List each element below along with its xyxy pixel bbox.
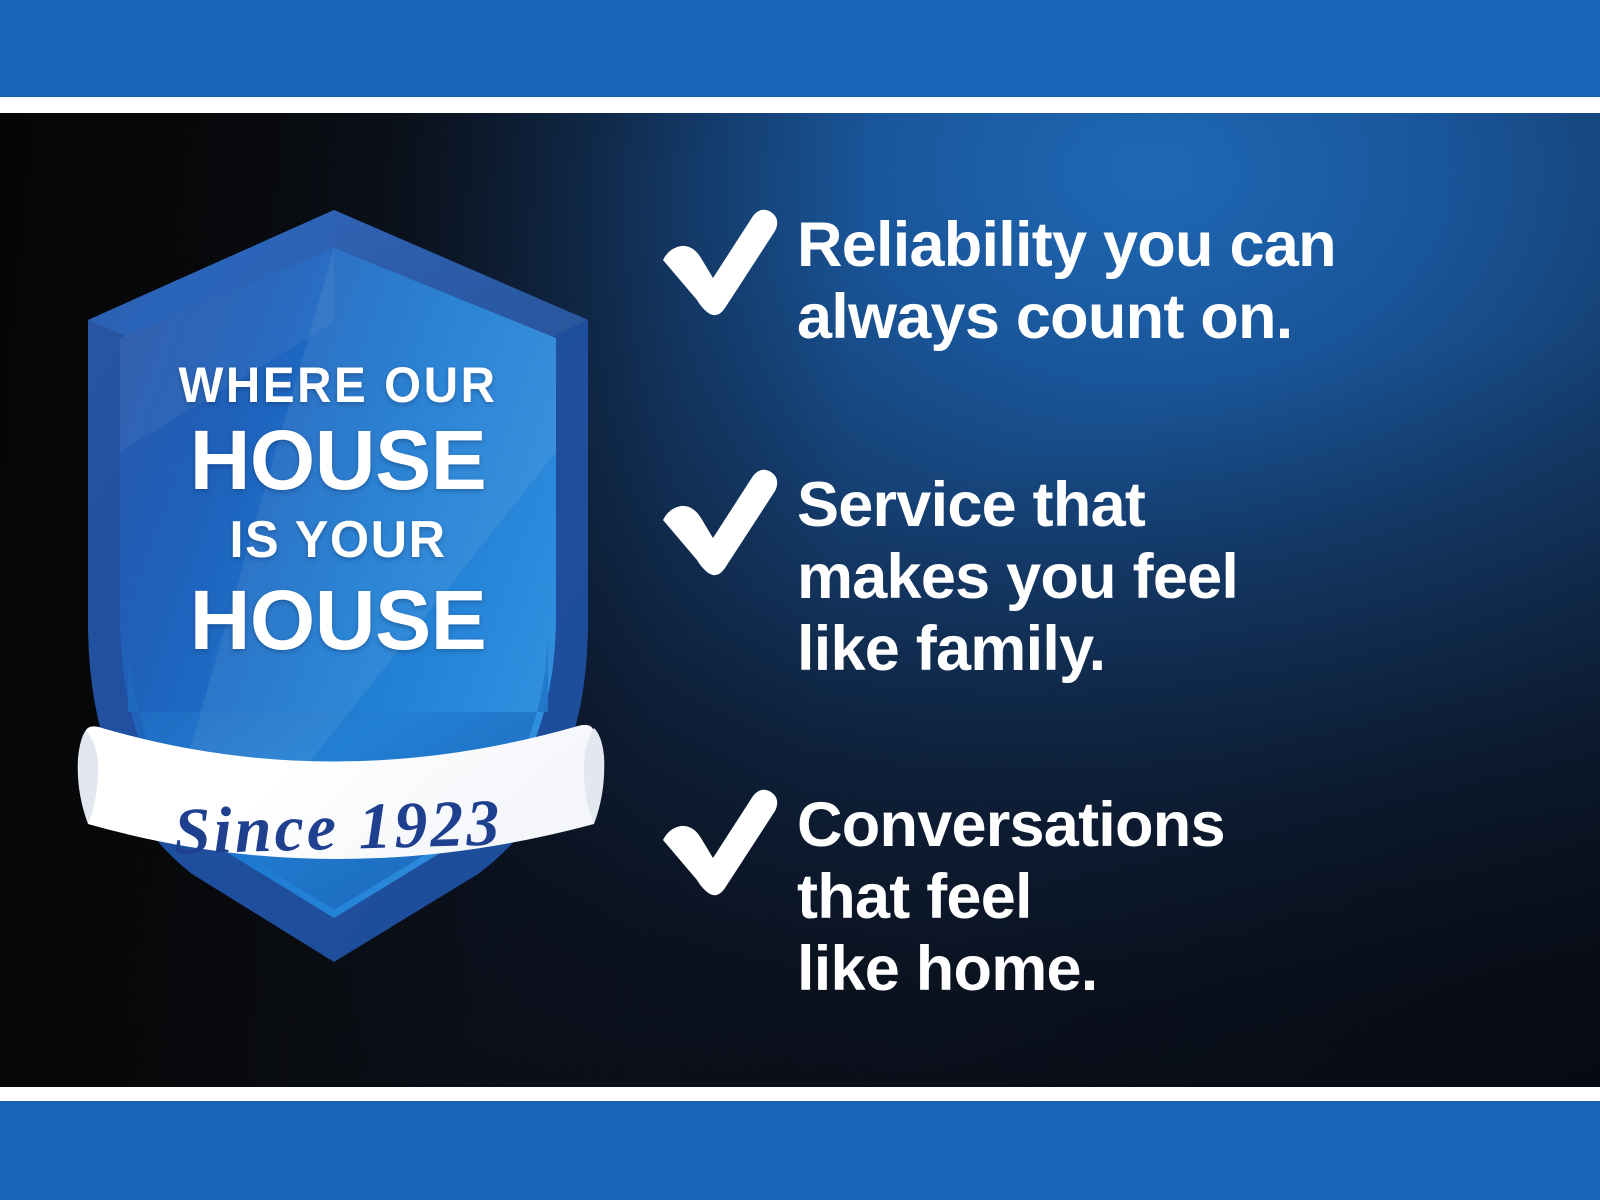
benefit-1-line-1: Reliability you can (797, 210, 1336, 282)
benefit-text-2: Service that makes you feel like family. (797, 468, 1238, 685)
top-brand-bar (0, 0, 1600, 97)
checkmark-icon (655, 788, 783, 896)
benefit-3-line-1: Conversations (797, 790, 1225, 862)
benefit-1-line-2: always count on. (797, 282, 1336, 354)
checkmark-icon (655, 208, 783, 316)
benefit-2-line-1: Service that (797, 470, 1238, 542)
shield-badge: WHERE OUR HOUSE IS YOUR HOUSE Since 1923 (58, 152, 618, 962)
benefit-2-line-2: makes you feel (797, 542, 1238, 614)
promo-poster: WHERE OUR HOUSE IS YOUR HOUSE Since 1923… (0, 0, 1600, 1200)
benefit-item-3: Conversations that feel like home. (655, 788, 1225, 1005)
benefit-text-1: Reliability you can always count on. (797, 208, 1336, 354)
checkmark-icon (655, 468, 783, 576)
benefit-2-line-3: like family. (797, 614, 1238, 686)
benefit-3-line-3: like home. (797, 934, 1225, 1006)
shield-graphic (58, 152, 618, 962)
benefit-item-2: Service that makes you feel like family. (655, 468, 1238, 685)
benefit-3-line-2: that feel (797, 862, 1225, 934)
benefit-text-3: Conversations that feel like home. (797, 788, 1225, 1005)
bottom-brand-bar (0, 1101, 1600, 1200)
benefit-item-1: Reliability you can always count on. (655, 208, 1336, 354)
